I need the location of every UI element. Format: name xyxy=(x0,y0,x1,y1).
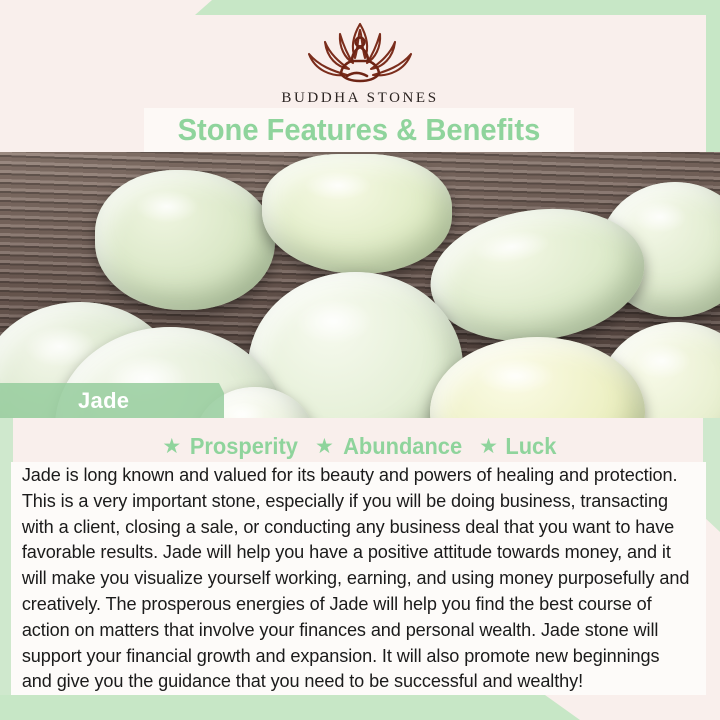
stone-features-poster: BUDDHA STONES Stone Features & Benefits … xyxy=(0,0,720,720)
stone-pebble xyxy=(95,170,275,310)
benefit-label: Abundance xyxy=(343,433,462,460)
star-icon: ★ xyxy=(479,436,498,457)
stone-pebble xyxy=(262,154,452,274)
benefit-label: Prosperity xyxy=(190,433,298,460)
benefit-label: Luck xyxy=(505,433,556,460)
stone-name-label: Jade xyxy=(78,388,129,414)
benefit-item-abundance: ★ Abundance xyxy=(315,433,465,460)
stone-name-badge: Jade xyxy=(0,383,224,418)
brand-name: BUDDHA STONES xyxy=(0,90,720,107)
decorative-bottom-band xyxy=(0,695,580,720)
decorative-top-band xyxy=(195,0,720,15)
star-icon: ★ xyxy=(315,436,334,457)
page-title: Stone Features & Benefits xyxy=(178,112,541,148)
lotus-meditation-figure-icon xyxy=(295,18,425,88)
benefits-row: ★ Prosperity ★ Abundance ★ Luck xyxy=(0,430,720,462)
benefit-item-luck: ★ Luck xyxy=(479,433,558,460)
description-text: Jade is long known and valued for its be… xyxy=(11,462,696,694)
headline-band: Stone Features & Benefits xyxy=(144,108,574,152)
benefit-item-prosperity: ★ Prosperity xyxy=(162,433,301,460)
brand-logo-block: BUDDHA STONES xyxy=(0,18,720,107)
star-icon: ★ xyxy=(162,436,181,457)
description-card: Jade is long known and valued for its be… xyxy=(11,462,706,696)
jade-stones-photo xyxy=(0,152,720,418)
